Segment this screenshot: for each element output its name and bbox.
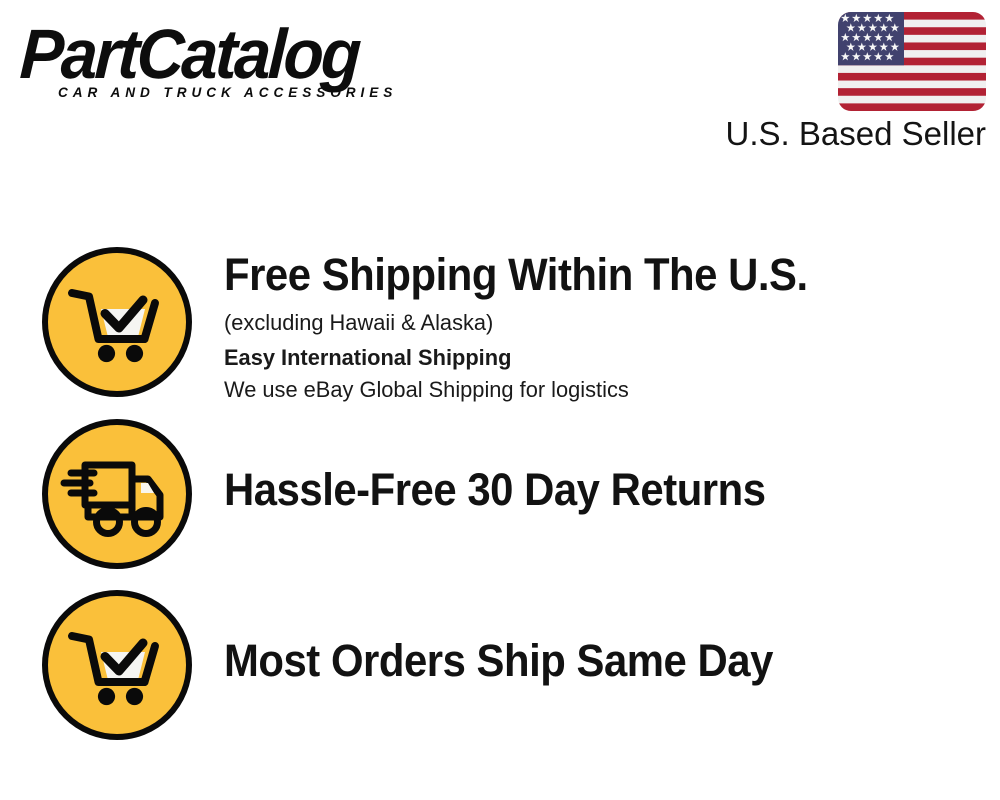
- feature-text: Free Shipping Within The U.S. (excluding…: [192, 247, 1000, 405]
- feature-row: Hassle-Free 30 Day Returns: [0, 419, 1000, 569]
- feature-subline: Easy International Shipping: [224, 342, 977, 373]
- feature-heading: Hassle-Free 30 Day Returns: [224, 464, 946, 516]
- brand-wordmark: PartCatalog: [18, 18, 463, 90]
- feature-heading: Free Shipping Within The U.S.: [224, 249, 946, 301]
- feature-text: Hassle-Free 30 Day Returns: [192, 419, 1000, 516]
- banner-page: PartCatalog CAR AND TRUCK ACCESSORIES: [0, 0, 1000, 800]
- feature-heading: Most Orders Ship Same Day: [224, 635, 946, 687]
- feature-text: Most Orders Ship Same Day: [192, 590, 1000, 687]
- brand-logo: PartCatalog CAR AND TRUCK ACCESSORIES: [22, 18, 492, 118]
- seller-location-label: U.S. Based Seller: [726, 114, 986, 154]
- feature-row: Free Shipping Within The U.S. (excluding…: [0, 247, 1000, 405]
- feature-row: Most Orders Ship Same Day: [0, 590, 1000, 740]
- delivery-truck-icon: [42, 419, 192, 569]
- shopping-cart-check-icon: [42, 247, 192, 397]
- feature-subline: We use eBay Global Shipping for logistic…: [224, 374, 977, 405]
- shopping-cart-check-icon: [42, 590, 192, 740]
- feature-subline: (excluding Hawaii & Alaska): [224, 307, 977, 338]
- brand-tagline: CAR AND TRUCK ACCESSORIES: [58, 84, 479, 100]
- us-flag-icon: [838, 12, 986, 111]
